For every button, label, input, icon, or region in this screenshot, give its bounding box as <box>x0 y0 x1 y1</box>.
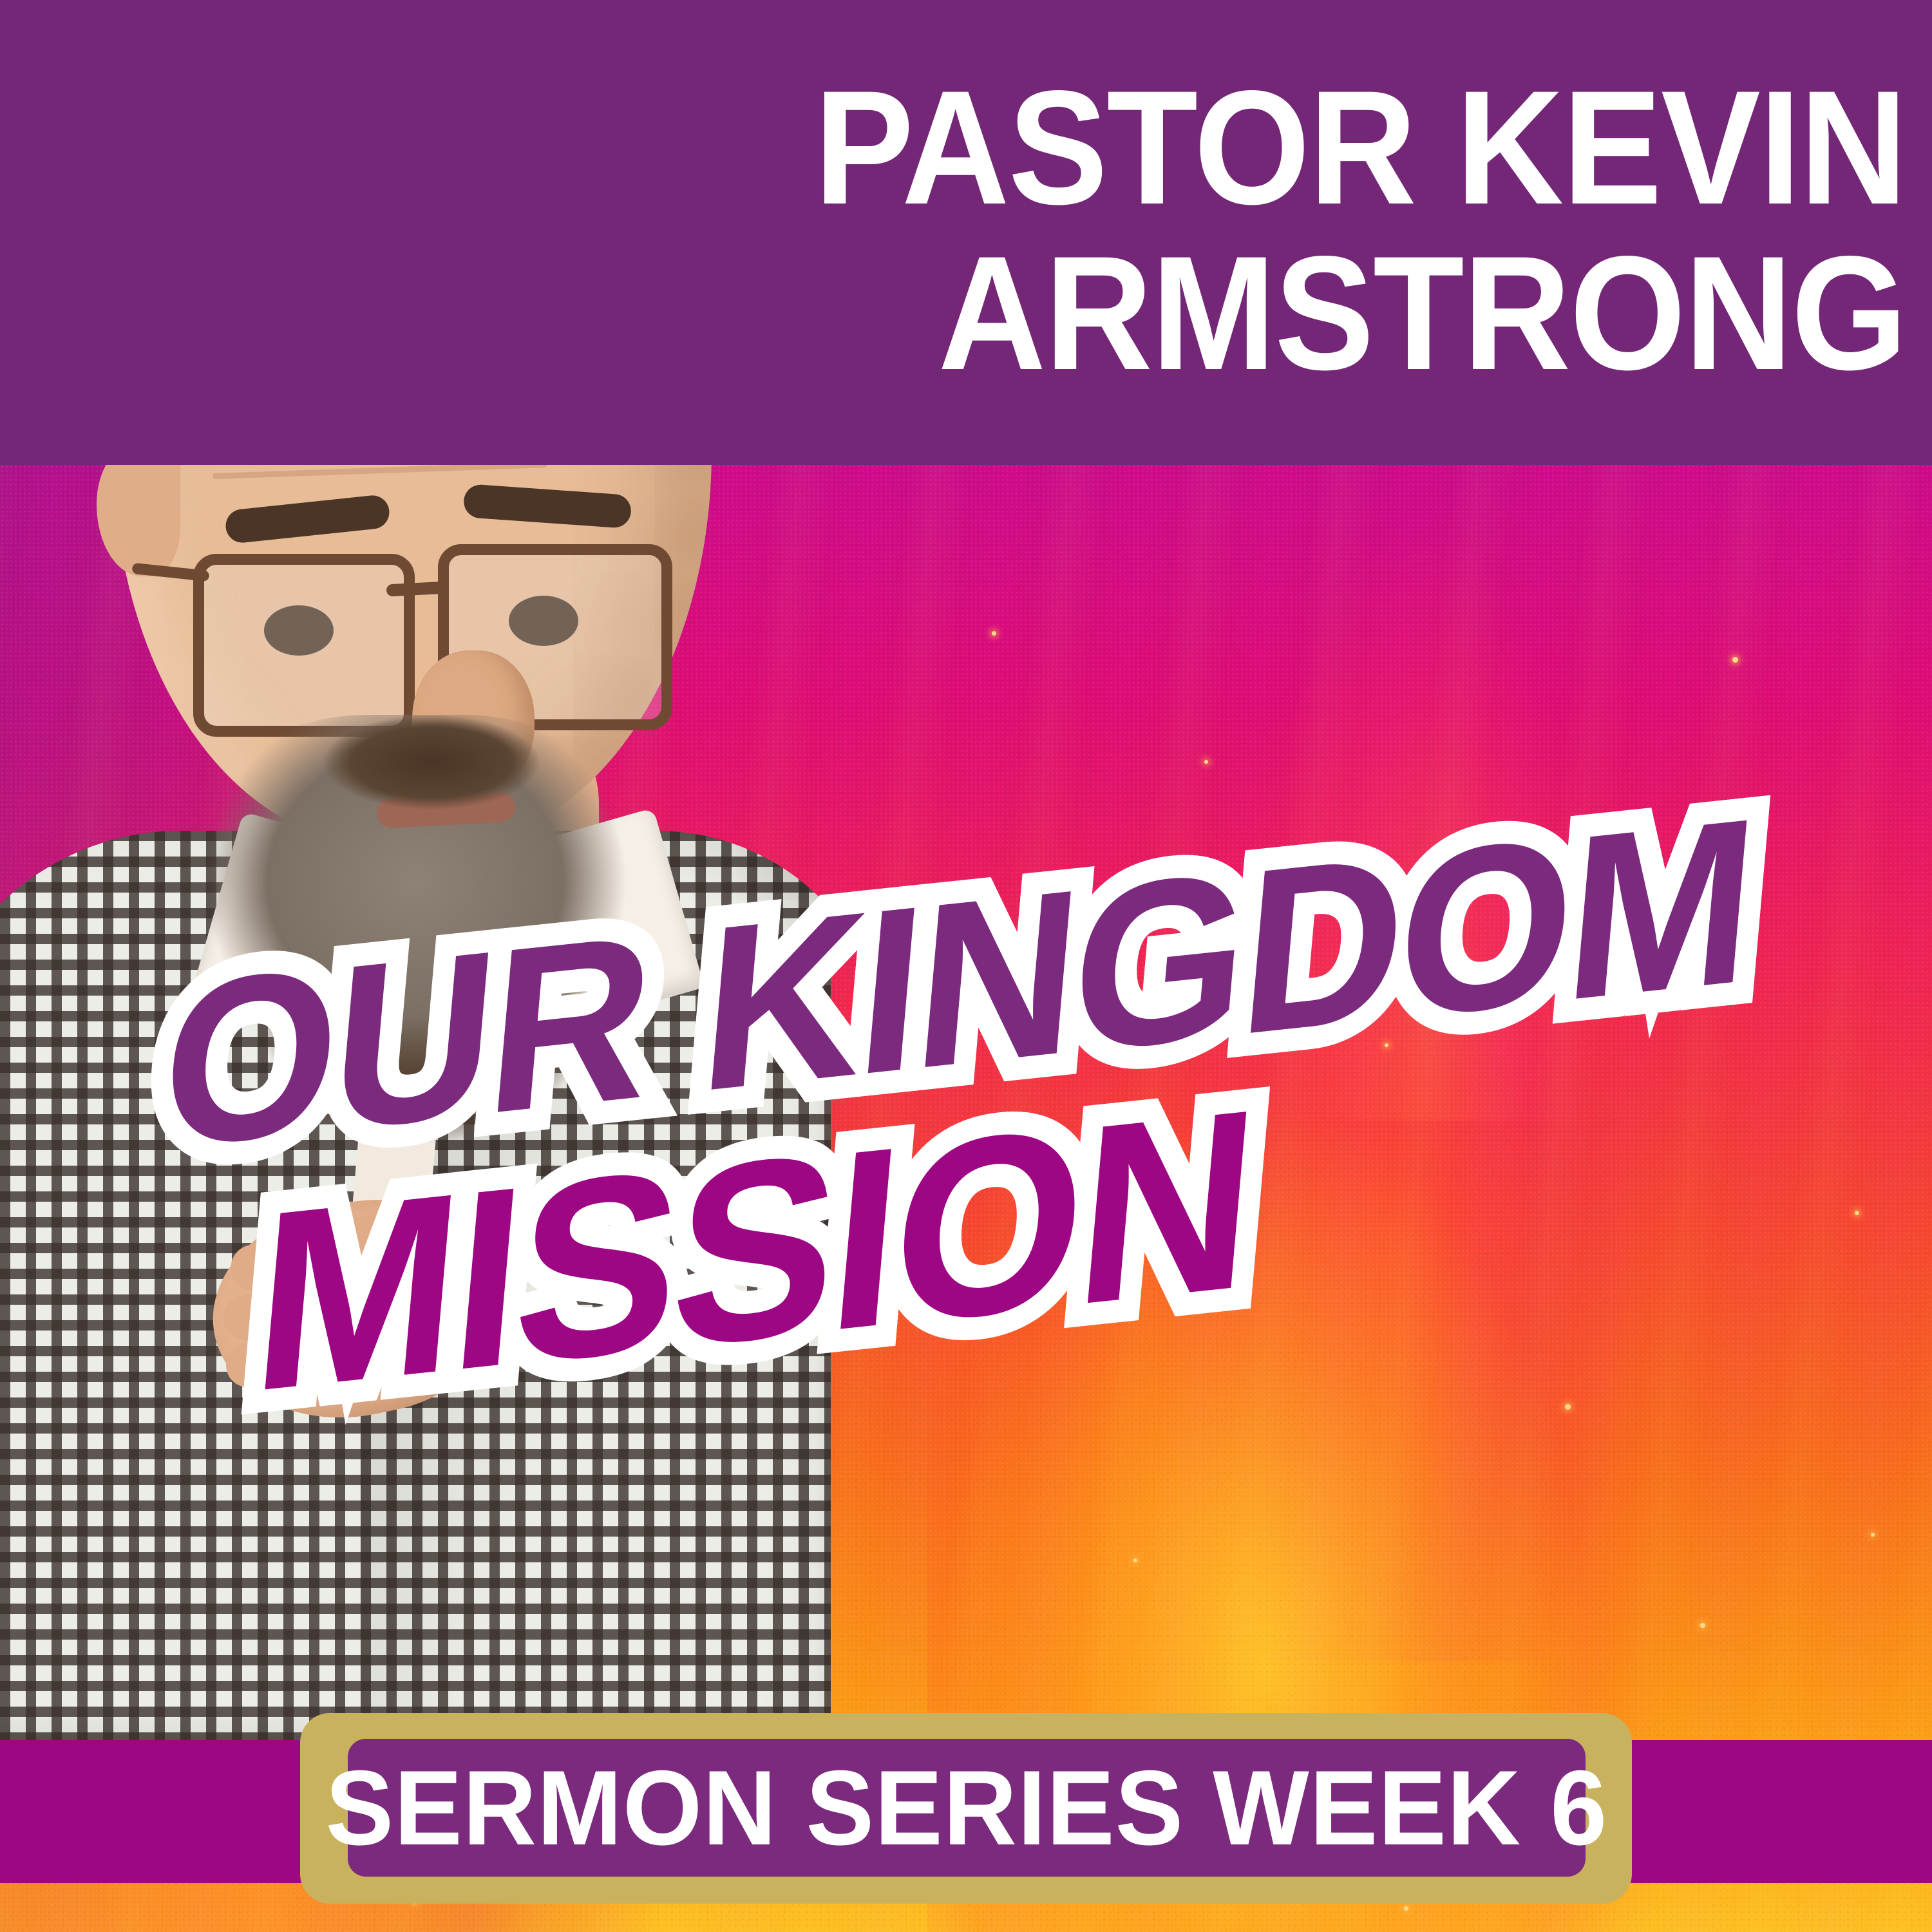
sermon-banner-plate: SERMON SERIES WEEK 6 <box>348 1739 1586 1877</box>
sermon-banner-label: SERMON SERIES WEEK 6 <box>326 1755 1608 1861</box>
ember-spark <box>1732 657 1738 663</box>
ember-spark <box>1133 1558 1137 1562</box>
ember-spark <box>1700 1623 1705 1628</box>
sermon-thumbnail: PASTOR KEVIN ARMSTRONG OUR KINGDOM MISSI… <box>0 0 1932 1932</box>
speaker-name: PASTOR KEVIN ARMSTRONG <box>721 44 1906 417</box>
ember-spark <box>1565 1404 1571 1410</box>
speaker-name-line-2: ARMSTRONG <box>938 231 1906 396</box>
ember-spark <box>1871 1533 1875 1537</box>
ember-spark <box>1204 760 1208 764</box>
ember-spark <box>1385 1043 1388 1047</box>
ember-spark <box>1855 1211 1859 1215</box>
ember-spark <box>1597 940 1602 945</box>
ember-spark <box>1404 1906 1408 1911</box>
mustache <box>303 712 560 824</box>
eyeglass-lens-left <box>193 554 415 737</box>
speaker-name-line-1: PASTOR KEVIN <box>814 65 1906 231</box>
ember-spark <box>992 631 996 636</box>
